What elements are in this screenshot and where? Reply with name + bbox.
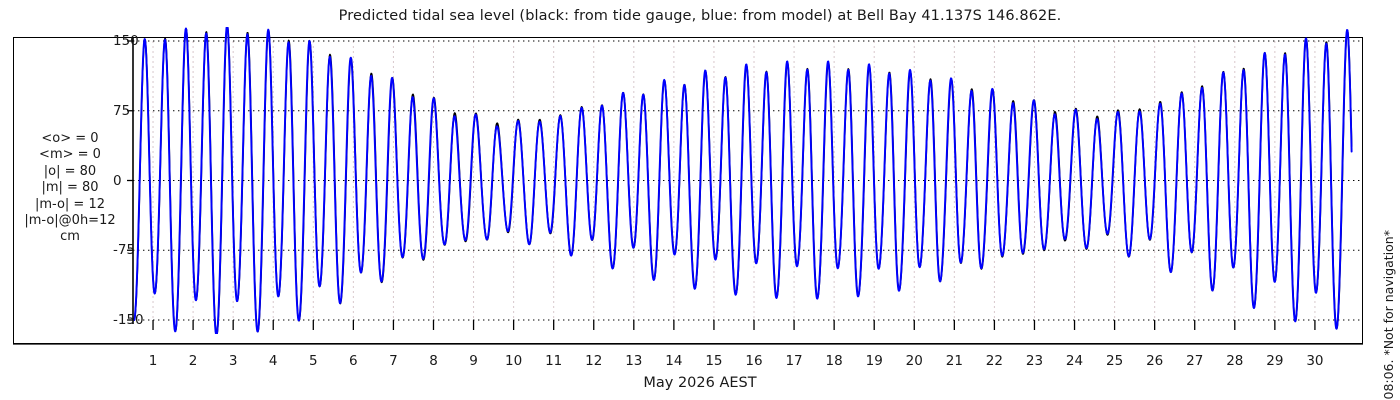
- x-tick-label: 1: [149, 353, 158, 369]
- x-tick-label: 16: [745, 353, 762, 369]
- tidal-timeseries-plot: [0, 0, 1400, 400]
- x-tick-label: 18: [826, 353, 843, 369]
- x-tick-label: 25: [1106, 353, 1123, 369]
- y-tick-label: 75: [113, 103, 130, 119]
- x-tick-label: 21: [946, 353, 963, 369]
- x-tick-label: 26: [1146, 353, 1163, 369]
- y-tick-label: -75: [113, 242, 135, 258]
- y-tick-label: -150: [113, 312, 144, 328]
- x-tick-label: 5: [309, 353, 318, 369]
- x-tick-label: 17: [785, 353, 802, 369]
- x-tick-label: 4: [269, 353, 278, 369]
- x-tick-label: 20: [906, 353, 923, 369]
- x-tick-label: 19: [866, 353, 883, 369]
- x-tick-label: 2: [189, 353, 198, 369]
- y-tick-label: 150: [113, 33, 139, 49]
- x-tick-label: 29: [1266, 353, 1283, 369]
- x-tick-label: 6: [349, 353, 358, 369]
- x-tick-label: 15: [705, 353, 722, 369]
- x-tick-label: 24: [1066, 353, 1083, 369]
- x-tick-label: 12: [585, 353, 602, 369]
- y-tick-label: 0: [113, 173, 122, 189]
- x-tick-label: 3: [229, 353, 238, 369]
- x-tick-label: 10: [505, 353, 522, 369]
- x-tick-label: 7: [389, 353, 398, 369]
- x-tick-label: 14: [665, 353, 682, 369]
- x-tick-label: 11: [545, 353, 562, 369]
- x-tick-label: 22: [986, 353, 1003, 369]
- x-tick-label: 23: [1026, 353, 1043, 369]
- x-tick-label: 9: [469, 353, 478, 369]
- x-tick-label: 13: [625, 353, 642, 369]
- x-tick-label: 28: [1226, 353, 1243, 369]
- x-tick-label: 27: [1186, 353, 1203, 369]
- x-axis-title: May 2026 AEST: [0, 375, 1400, 391]
- credit-label: © IMOS 26-Oct-2025 05:08:06. *Not for na…: [1381, 230, 1396, 400]
- x-tick-label: 30: [1306, 353, 1323, 369]
- credit-notice: © IMOS 26-Oct-2025 05:08:06. *Not for na…: [1377, 0, 1399, 400]
- x-tick-label: 8: [429, 353, 438, 369]
- axis-spines: [13, 37, 1363, 344]
- chart-page: Predicted tidal sea level (black: from t…: [0, 0, 1400, 400]
